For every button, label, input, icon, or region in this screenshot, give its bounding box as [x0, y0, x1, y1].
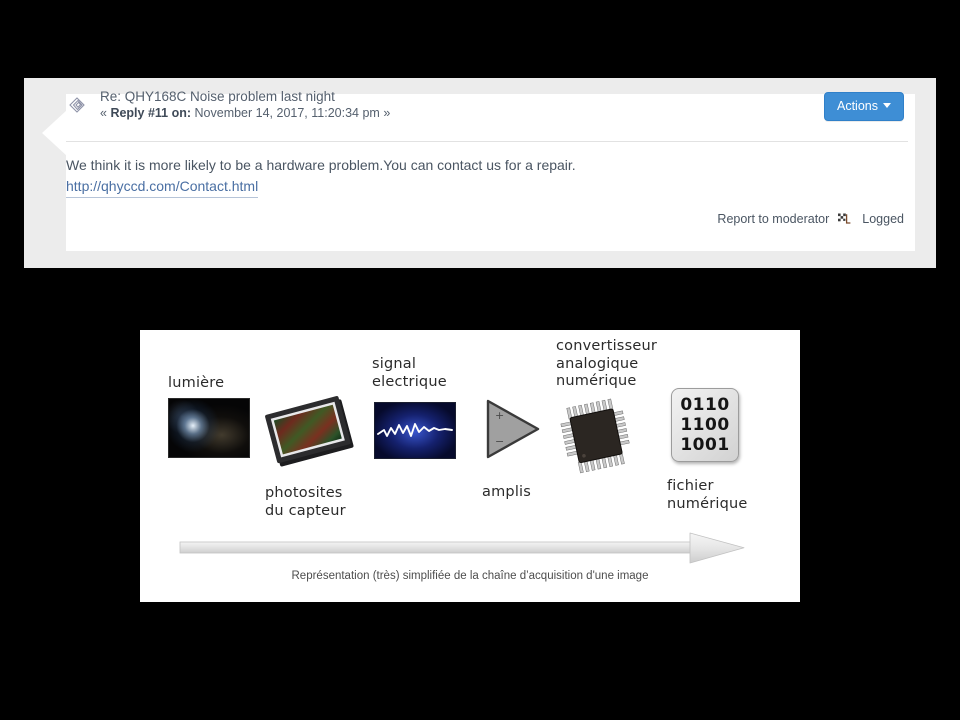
svg-text:+: + [495, 409, 504, 422]
forum-post-panel: Re: QHY168C Noise problem last night « R… [24, 78, 936, 268]
oscilloscope-waveform [374, 402, 456, 459]
chevron-down-icon [883, 103, 891, 108]
post-subject[interactable]: Re: QHY168C Noise problem last night [100, 88, 390, 105]
post-body-link[interactable]: http://qhyccd.com/Contact.html [66, 176, 258, 198]
acquisition-chain-diagram: lumière photosites du capte [140, 330, 800, 602]
post-diamond-icon [66, 94, 88, 116]
stage-label-photosites: photosites du capteur [265, 485, 346, 520]
post-meta-prefix: « [100, 106, 107, 120]
stage-label-fichier: fichier numérique [667, 478, 748, 513]
amplifier-triangle: + − [478, 393, 544, 465]
binary-file-box: 0110 1100 1001 [671, 388, 739, 462]
stage-label-convertisseur: convertisseur analogique numérique [556, 338, 657, 391]
logged-footprint-icon [838, 213, 853, 226]
post-reply-number: Reply #11 on: [110, 106, 191, 120]
actions-button-label: Actions [837, 99, 878, 113]
post-header: Re: QHY168C Noise problem last night « R… [24, 78, 936, 141]
post-meta-suffix: » [383, 106, 390, 120]
flow-arrow-right [178, 530, 754, 566]
diagram-caption: Représentation (très) simplifiée de la c… [140, 570, 800, 582]
report-to-moderator-link[interactable]: Report to moderator [717, 212, 829, 226]
cmos-sensor-chip [262, 392, 358, 468]
post-body: We think it is more likely to be a hardw… [66, 155, 908, 198]
post-title-group: Re: QHY168C Noise problem last night « R… [100, 88, 390, 122]
binary-row-1: 0110 [680, 395, 729, 415]
stage-label-signal: signal electrique [372, 356, 447, 391]
binary-row-2: 1100 [680, 415, 729, 435]
post-footer: Report to moderator Logged [717, 212, 904, 226]
night-sky-star-photo [168, 398, 250, 458]
binary-row-3: 1001 [680, 435, 729, 455]
post-divider [66, 141, 908, 142]
svg-text:−: − [495, 435, 504, 448]
actions-button[interactable]: Actions [824, 92, 904, 121]
stage-label-lumiere: lumière [168, 375, 224, 393]
adc-qfp-chip [555, 392, 645, 478]
post-timestamp: November 14, 2017, 11:20:34 pm [195, 106, 380, 120]
post-body-text: We think it is more likely to be a hardw… [66, 155, 908, 176]
logged-label: Logged [862, 212, 904, 226]
stage-label-amplis: amplis [482, 484, 531, 502]
post-meta: « Reply #11 on: November 14, 2017, 11:20… [100, 105, 390, 122]
